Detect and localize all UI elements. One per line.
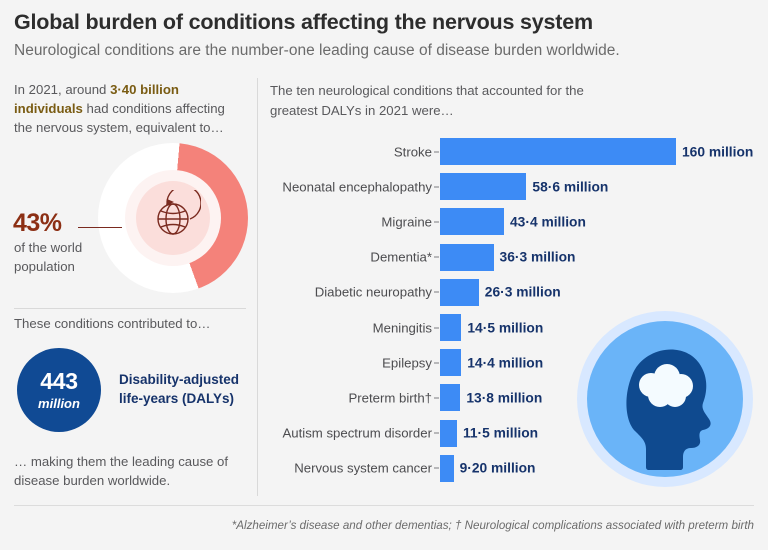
bar [440, 244, 494, 271]
brain-head-icon [575, 309, 755, 489]
axis-tick [434, 186, 439, 187]
bar-value-label: 14·5 million [467, 320, 543, 335]
bar [440, 208, 504, 235]
bar-category-label: Dementia* [370, 250, 432, 265]
bar-category-label: Meningitis [373, 320, 432, 335]
bar [440, 349, 461, 376]
bar-category-label: Neonatal encephalopathy [282, 179, 432, 194]
globe-icon [145, 190, 201, 246]
axis-tick [434, 362, 439, 363]
bar-value-label: 160 million [682, 144, 753, 159]
leading-cause-text: … making them the leading cause of disea… [14, 452, 249, 490]
bar-row: Dementia*36·3 million [270, 244, 766, 271]
bar [440, 384, 460, 411]
dalys-label: Disability-adjusted life-years (DALYs) [119, 370, 254, 408]
axis-tick [434, 468, 439, 469]
bar [440, 420, 457, 447]
footer-divider [14, 505, 754, 506]
page-title: Global burden of conditions affecting th… [14, 10, 593, 35]
bar-category-label: Stroke [394, 144, 432, 159]
bar-value-label: 43·4 million [510, 214, 586, 229]
axis-tick [434, 433, 439, 434]
dalys-circle: 443 million [17, 348, 101, 432]
bar-row: Stroke160 million [270, 138, 766, 165]
axis-tick [434, 292, 439, 293]
axis-tick [434, 151, 439, 152]
bar-value-label: 58·6 million [532, 179, 608, 194]
left-intro-part1: In 2021, around [14, 82, 110, 97]
bar-category-label: Autism spectrum disorder [282, 426, 432, 441]
bar-category-label: Migraine [381, 214, 432, 229]
infographic-root: Global burden of conditions affecting th… [0, 0, 768, 550]
bar-row: Migraine43·4 million [270, 208, 766, 235]
bar-row: Neonatal encephalopathy58·6 million [270, 173, 766, 200]
bar [440, 314, 461, 341]
footnote: *Alzheimer’s disease and other dementias… [232, 519, 754, 532]
bar [440, 138, 676, 165]
bar-value-label: 14·4 million [467, 355, 543, 370]
bar [440, 455, 454, 482]
axis-tick [434, 221, 439, 222]
bar-category-label: Diabetic neuropathy [315, 285, 432, 300]
percent-value: 43% [13, 209, 62, 238]
bar-category-label: Nervous system cancer [294, 461, 432, 476]
left-intro-text: In 2021, around 3·40 billion individuals… [14, 80, 246, 137]
percent-caption: of the world population [14, 238, 124, 276]
chart-intro-text: The ten neurological conditions that acc… [270, 81, 590, 121]
bar-value-label: 36·3 million [500, 250, 576, 265]
left-divider [14, 308, 246, 309]
axis-tick [434, 257, 439, 258]
bar [440, 279, 479, 306]
percent-leader-line [78, 227, 122, 228]
page-subtitle: Neurological conditions are the number-o… [14, 42, 620, 60]
bar [440, 173, 526, 200]
contributed-text: These conditions contributed to… [14, 316, 210, 331]
axis-tick [434, 397, 439, 398]
bar-row: Diabetic neuropathy26·3 million [270, 279, 766, 306]
bar-category-label: Epilepsy [382, 355, 432, 370]
bar-value-label: 13·8 million [466, 390, 542, 405]
bar-value-label: 26·3 million [485, 285, 561, 300]
dalys-number: 443 [40, 370, 77, 393]
dalys-unit: million [38, 397, 80, 410]
axis-tick [434, 327, 439, 328]
bar-value-label: 9·20 million [460, 461, 536, 476]
bar-category-label: Preterm birth† [348, 390, 432, 405]
column-divider [257, 78, 258, 496]
bar-value-label: 11·5 million [463, 426, 538, 441]
